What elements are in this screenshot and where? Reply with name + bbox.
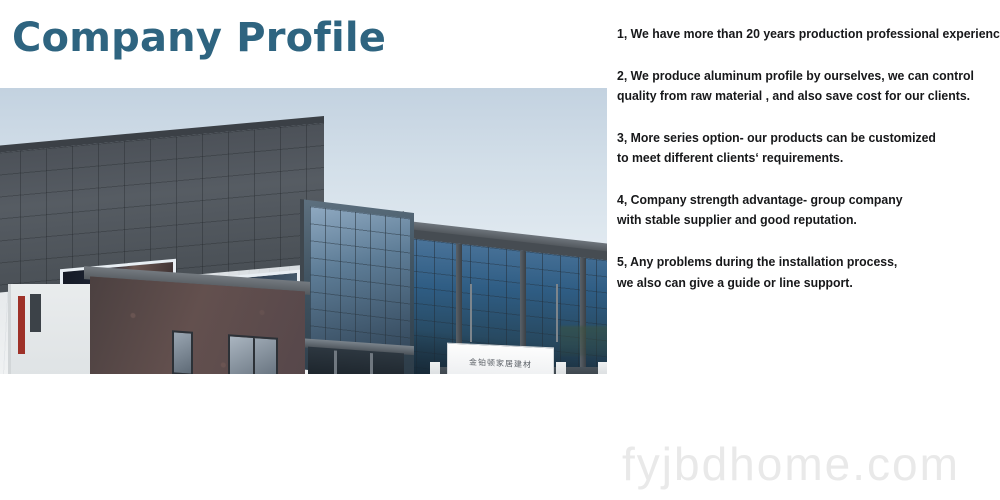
fence-panel [566,367,598,374]
fence-post [598,362,607,374]
curtain-mullion-3 [580,257,586,374]
profile-line: we also can give a guide or line support… [617,273,966,293]
profile-line: 2, We produce aluminum profile by oursel… [617,66,966,86]
page-title: Company Profile [12,14,386,62]
profile-line: 3, More series option- our products can … [617,128,966,148]
side-door [30,294,41,332]
profile-item-3: 3, More series option- our products can … [617,128,992,168]
profile-line: with stable supplier and good reputation… [617,210,966,230]
company-building-photo: 金铂顿家居建材 [0,88,607,374]
red-door-stripe [18,296,25,354]
profile-line: 1, We have more than 20 years production… [617,24,966,44]
profile-item-2: 2, We produce aluminum profile by oursel… [617,66,992,106]
atrium-glazing [310,206,410,352]
fence-post [556,362,566,374]
light-pole-2 [556,284,558,342]
profile-item-4: 4, Company strength advantage- group com… [617,190,992,230]
company-signboard: 金铂顿家居建材 [447,343,554,374]
profile-line: 5, Any problems during the installation … [617,252,966,272]
light-pole-1 [470,284,472,342]
profile-item-1: 1, We have more than 20 years production… [617,24,992,44]
background-treeline [560,326,607,356]
profile-line: to meet different clients‘ requirements. [617,148,966,168]
site-watermark: fyjbdhome.com [622,437,960,491]
profile-text-column: 1, We have more than 20 years production… [617,24,992,315]
profile-line: 4, Company strength advantage- group com… [617,190,966,210]
profile-line: quality from raw material , and also sav… [617,86,966,106]
fence-post [430,362,440,374]
company-signboard-text: 金铂顿家居建材 [469,356,532,370]
granite-window-2 [228,334,278,374]
granite-window-1 [172,330,193,374]
profile-item-5: 5, Any problems during the installation … [617,252,992,292]
